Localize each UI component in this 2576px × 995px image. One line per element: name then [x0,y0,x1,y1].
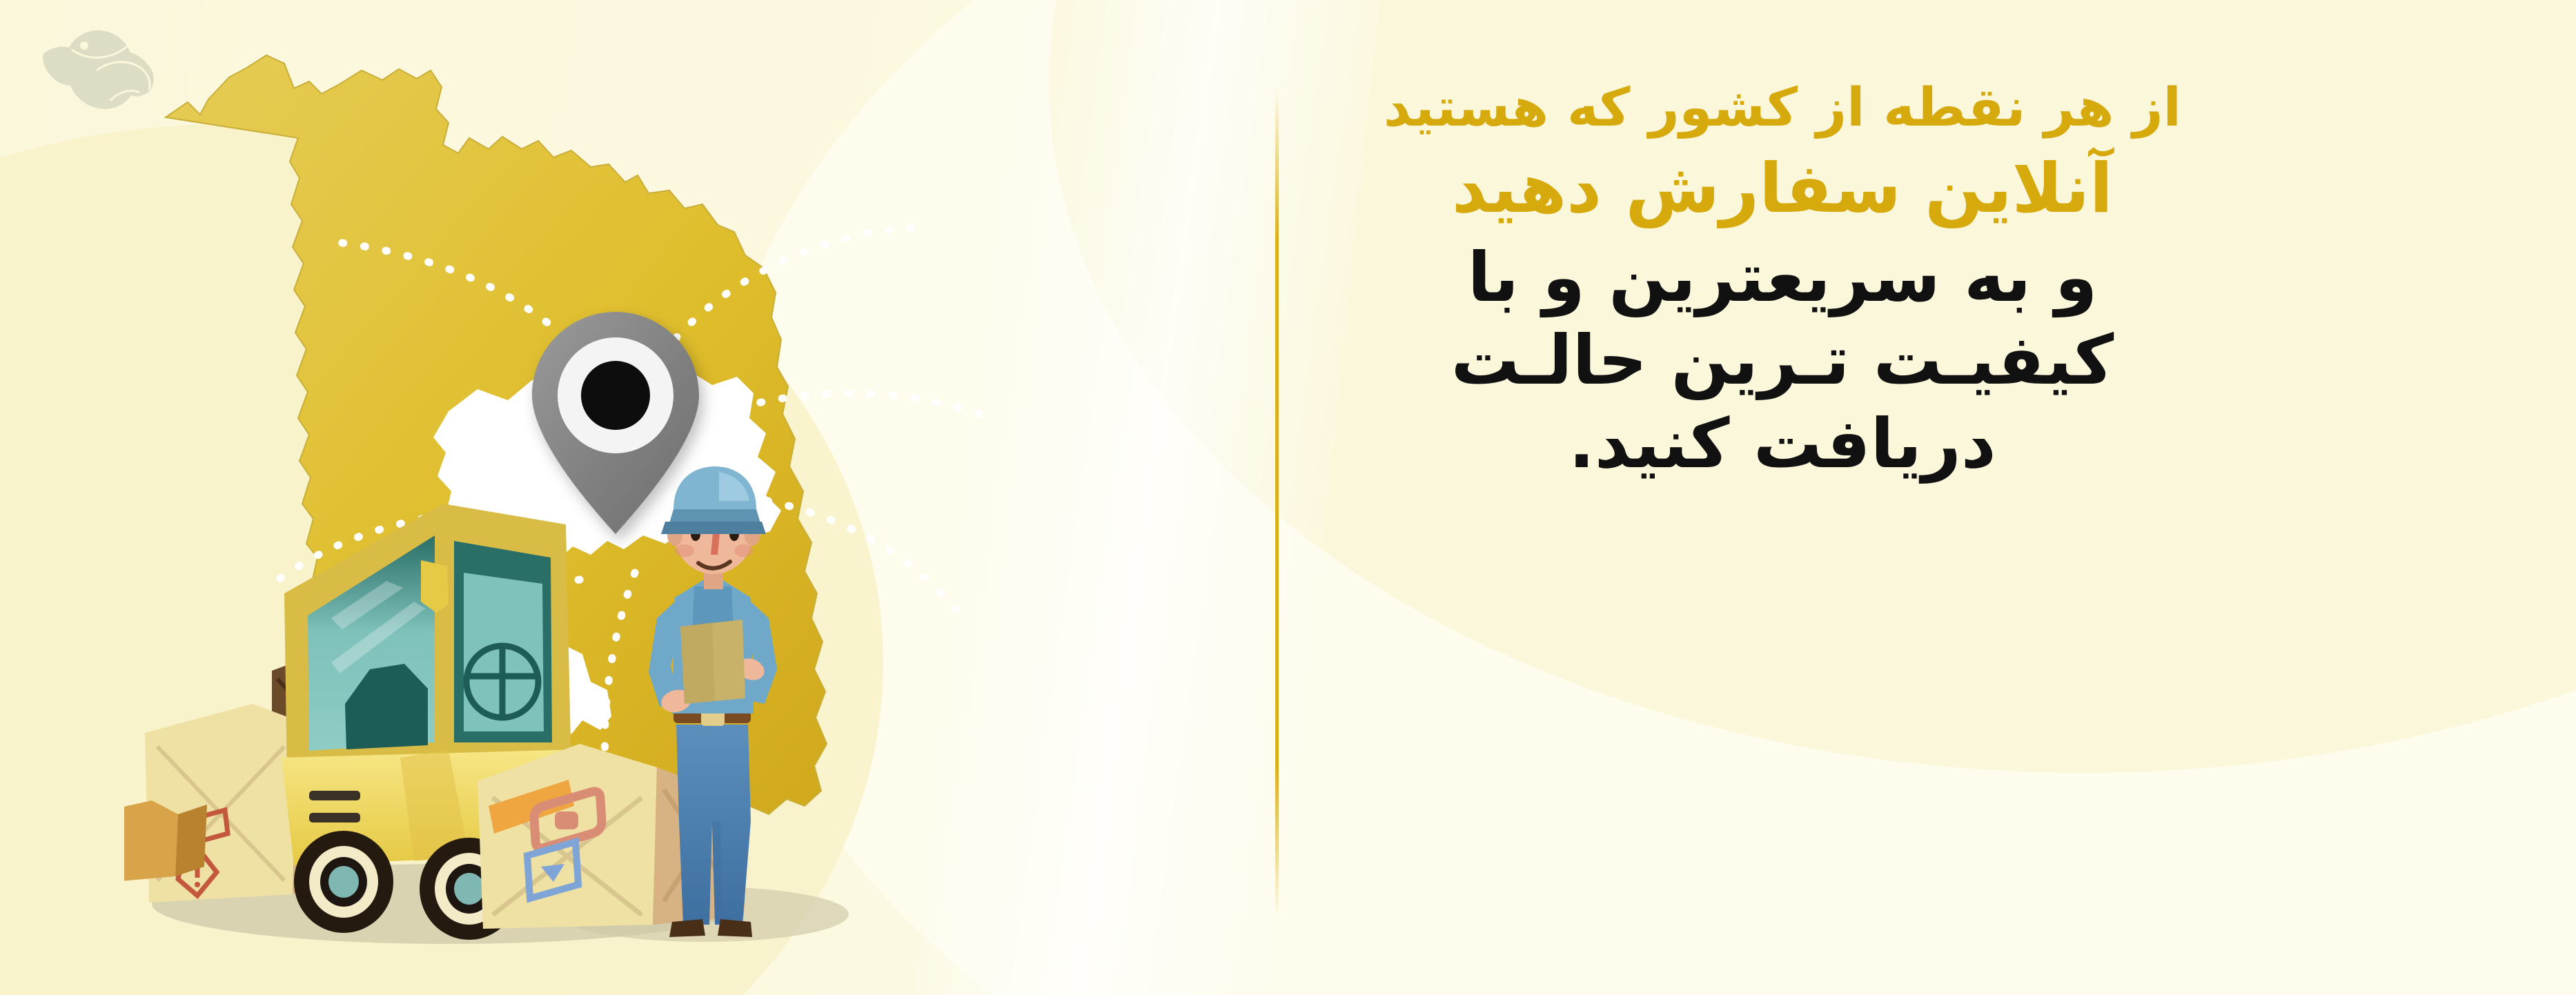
headline-line-5: دریافت کنید. [1265,403,2300,486]
headline-block: از هر نقطه از کشور که هستید آنلاین سفارش… [1265,76,2300,486]
headline-line-4: کیفیـت تـرین حالـت [1265,319,2300,403]
headline-line-3: و به سریعترین و با [1265,237,2300,320]
promo-banner: از هر نقطه از کشور که هستید آنلاین سفارش… [0,0,2576,995]
van-wheel-front [294,831,393,933]
bird-eye-icon [80,41,88,50]
headline-line-1: از هر نقطه از کشور که هستید [1265,76,2300,141]
map-pin-dot-icon [581,361,650,430]
headline-line-2: آنلاین سفارش دهید [1265,148,2300,231]
delivery-illustration [124,28,1228,966]
